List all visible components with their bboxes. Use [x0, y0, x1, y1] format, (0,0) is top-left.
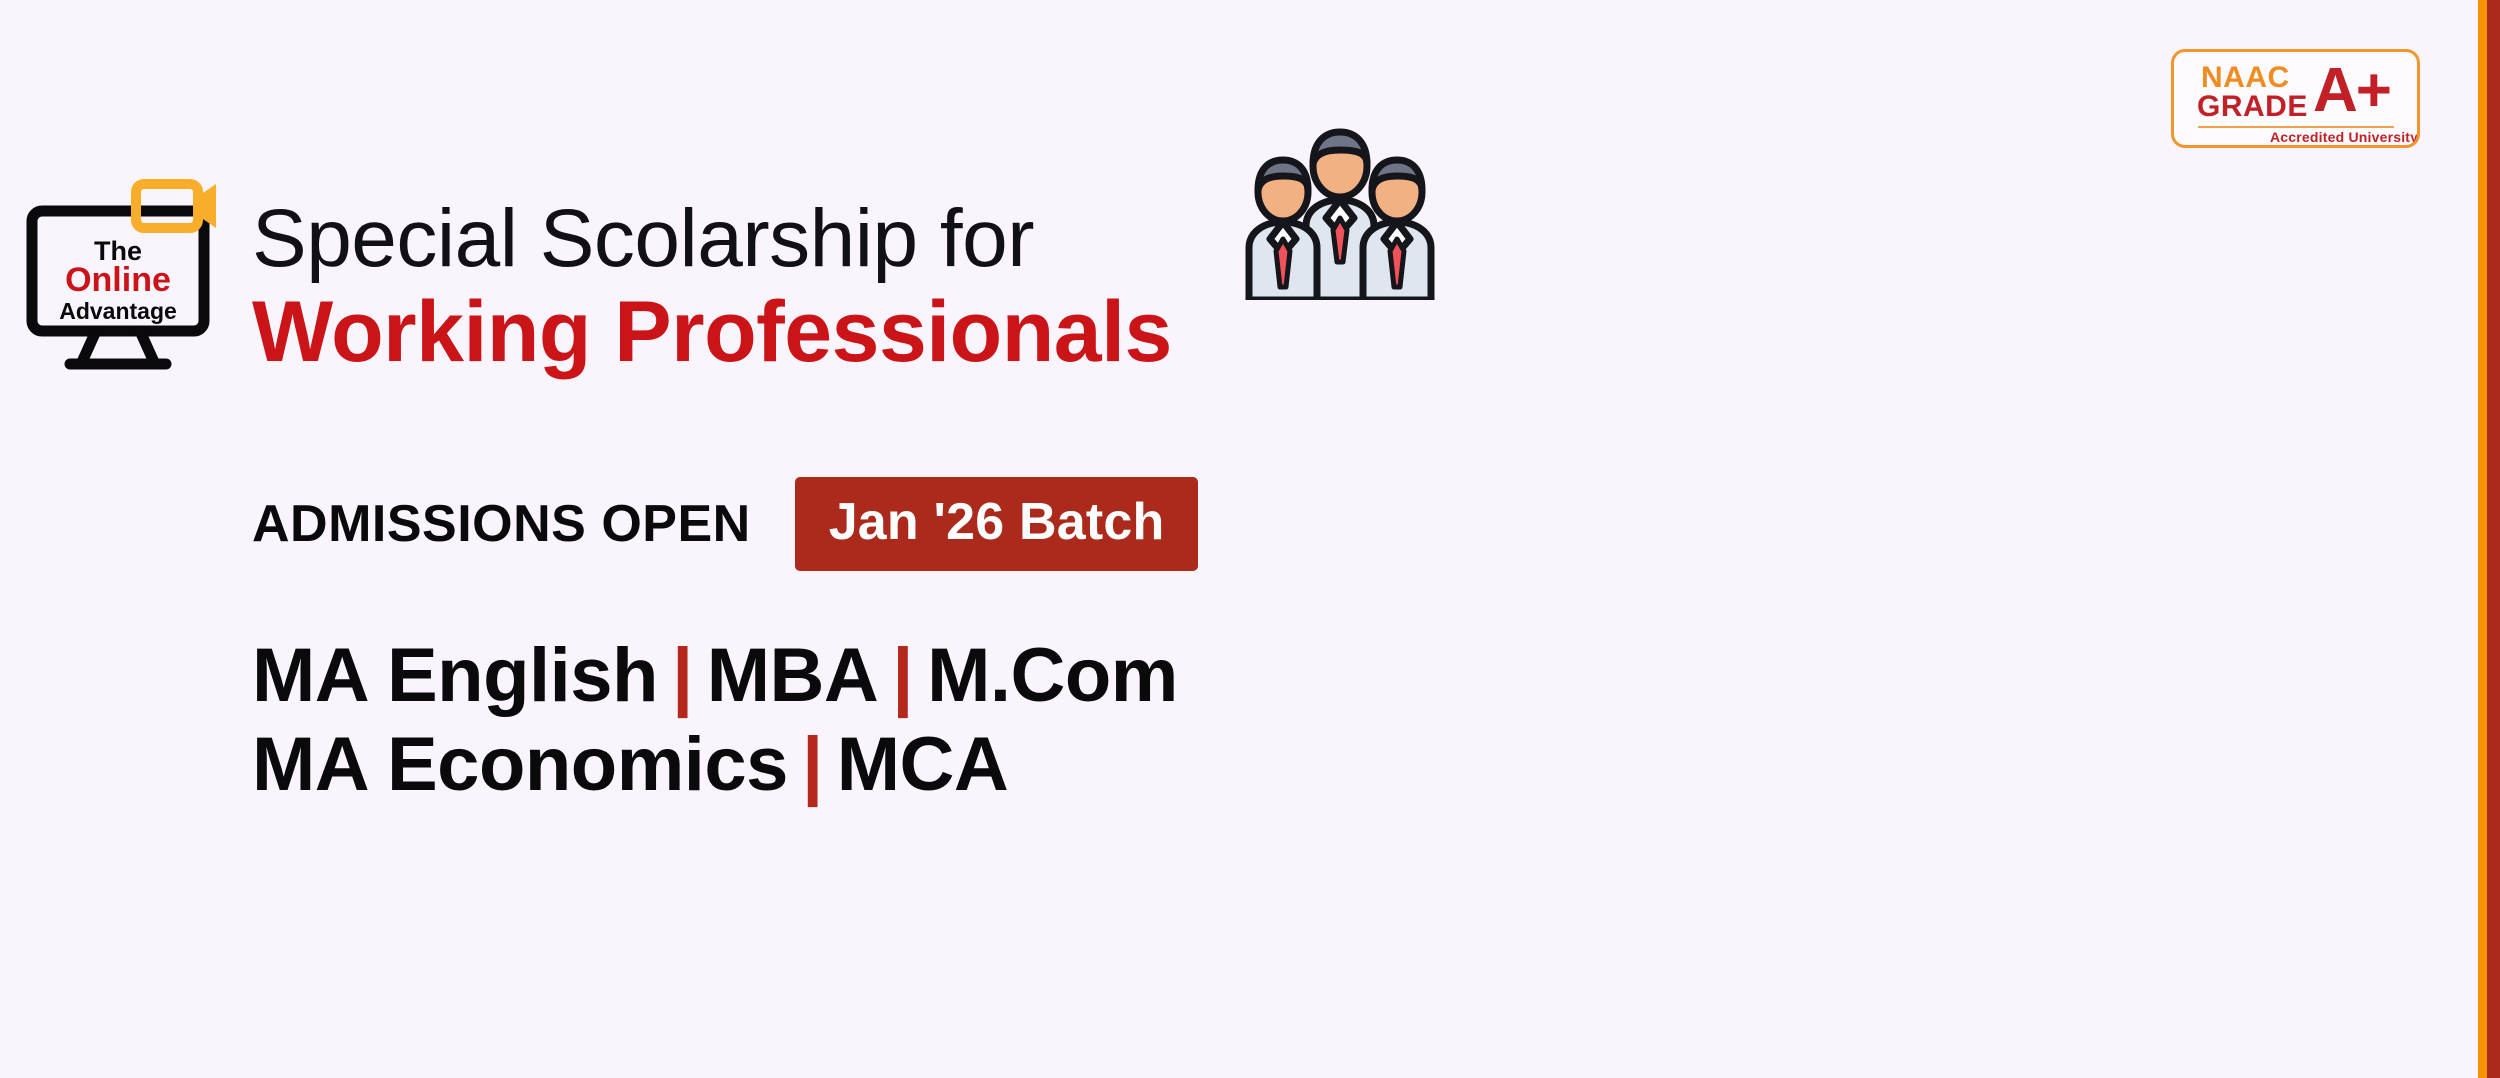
- edge-stripe-red: [2487, 0, 2500, 1078]
- course-mca: MCA: [837, 721, 1009, 810]
- naac-divider: [2198, 126, 2394, 128]
- naac-subtitle: Accredited University: [2270, 130, 2418, 144]
- course-separator: |: [658, 632, 707, 721]
- the-online-advantage-logo: The Online Advantage: [18, 178, 218, 378]
- svg-text:Online: Online: [65, 261, 171, 299]
- batch-badge[interactable]: Jan '26 Batch: [795, 477, 1199, 571]
- course-line-2: MA Economics | MCA: [252, 721, 1178, 810]
- naac-grade-badge: NAAC GRADE A+ Accredited University: [2171, 49, 2420, 148]
- course-separator: |: [878, 632, 927, 721]
- edge-stripe-orange: [2478, 0, 2487, 1078]
- headline-block: Special Scolarship for Working Professio…: [252, 196, 1652, 378]
- course-separator: |: [788, 721, 837, 810]
- course-ma-economics: MA Economics: [252, 721, 788, 810]
- course-mcom: M.Com: [927, 632, 1178, 721]
- headline-line-1: Special Scolarship for: [252, 196, 1652, 281]
- svg-text:Advantage: Advantage: [59, 298, 177, 324]
- admissions-row: ADMISSIONS OPEN Jan '26 Batch: [252, 470, 1198, 578]
- course-line-1: MA English | MBA | M.Com: [252, 632, 1178, 721]
- course-mba: MBA: [707, 632, 879, 721]
- headline-line-2: Working Professionals: [252, 287, 1652, 377]
- naac-aplus-label: A+: [2313, 60, 2390, 122]
- batch-badge-label: Jan '26 Batch: [829, 496, 1165, 548]
- promo-banner: The Online Advantage Special Scolarship …: [0, 0, 2500, 1078]
- admissions-open-label: ADMISSIONS OPEN: [252, 494, 751, 554]
- working-professionals-icon: [1243, 122, 1438, 300]
- naac-label: NAAC: [2201, 63, 2290, 93]
- course-ma-english: MA English: [252, 632, 658, 721]
- course-list: MA English | MBA | M.Com MA Economics | …: [252, 632, 1178, 810]
- naac-grade-label: GRADE: [2197, 92, 2308, 122]
